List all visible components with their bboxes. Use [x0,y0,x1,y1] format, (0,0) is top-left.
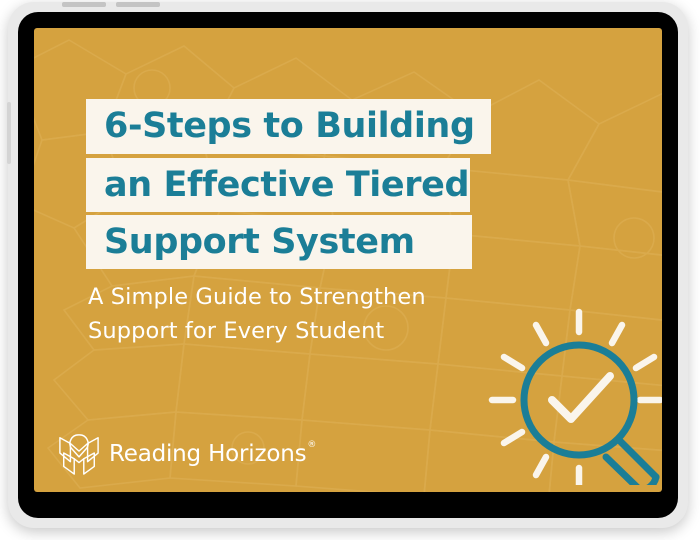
title-band-2: an Effective Tiered [86,158,470,212]
subtitle: A Simple Guide to Strengthen Support for… [88,280,468,348]
brand-name: Reading Horizons [109,441,306,467]
top-button-left[interactable] [62,2,106,7]
magnifier-check-icon [474,300,662,485]
title-line-2: an Effective Tiered [104,168,469,203]
tablet-device: 6-Steps to Building an Effective Tiered … [8,2,688,528]
brand-logo-text: Reading Horizons® [109,441,315,467]
title-band-3: Support System [86,215,472,269]
brand-logo: Reading Horizons® [58,432,315,476]
subtitle-line-2: Support for Every Student [88,314,468,348]
subtitle-line-1: A Simple Guide to Strengthen [88,280,468,314]
reading-horizons-logo-mark [58,432,100,476]
slide-canvas: 6-Steps to Building an Effective Tiered … [34,28,662,492]
title-line-3: Support System [104,225,415,260]
trademark-symbol: ® [307,440,316,450]
side-button-left[interactable] [7,102,11,164]
top-button-right[interactable] [116,2,160,7]
title-band-1: 6-Steps to Building [86,99,491,154]
check-icon [552,376,610,419]
title-line-1: 6-Steps to Building [104,109,475,144]
